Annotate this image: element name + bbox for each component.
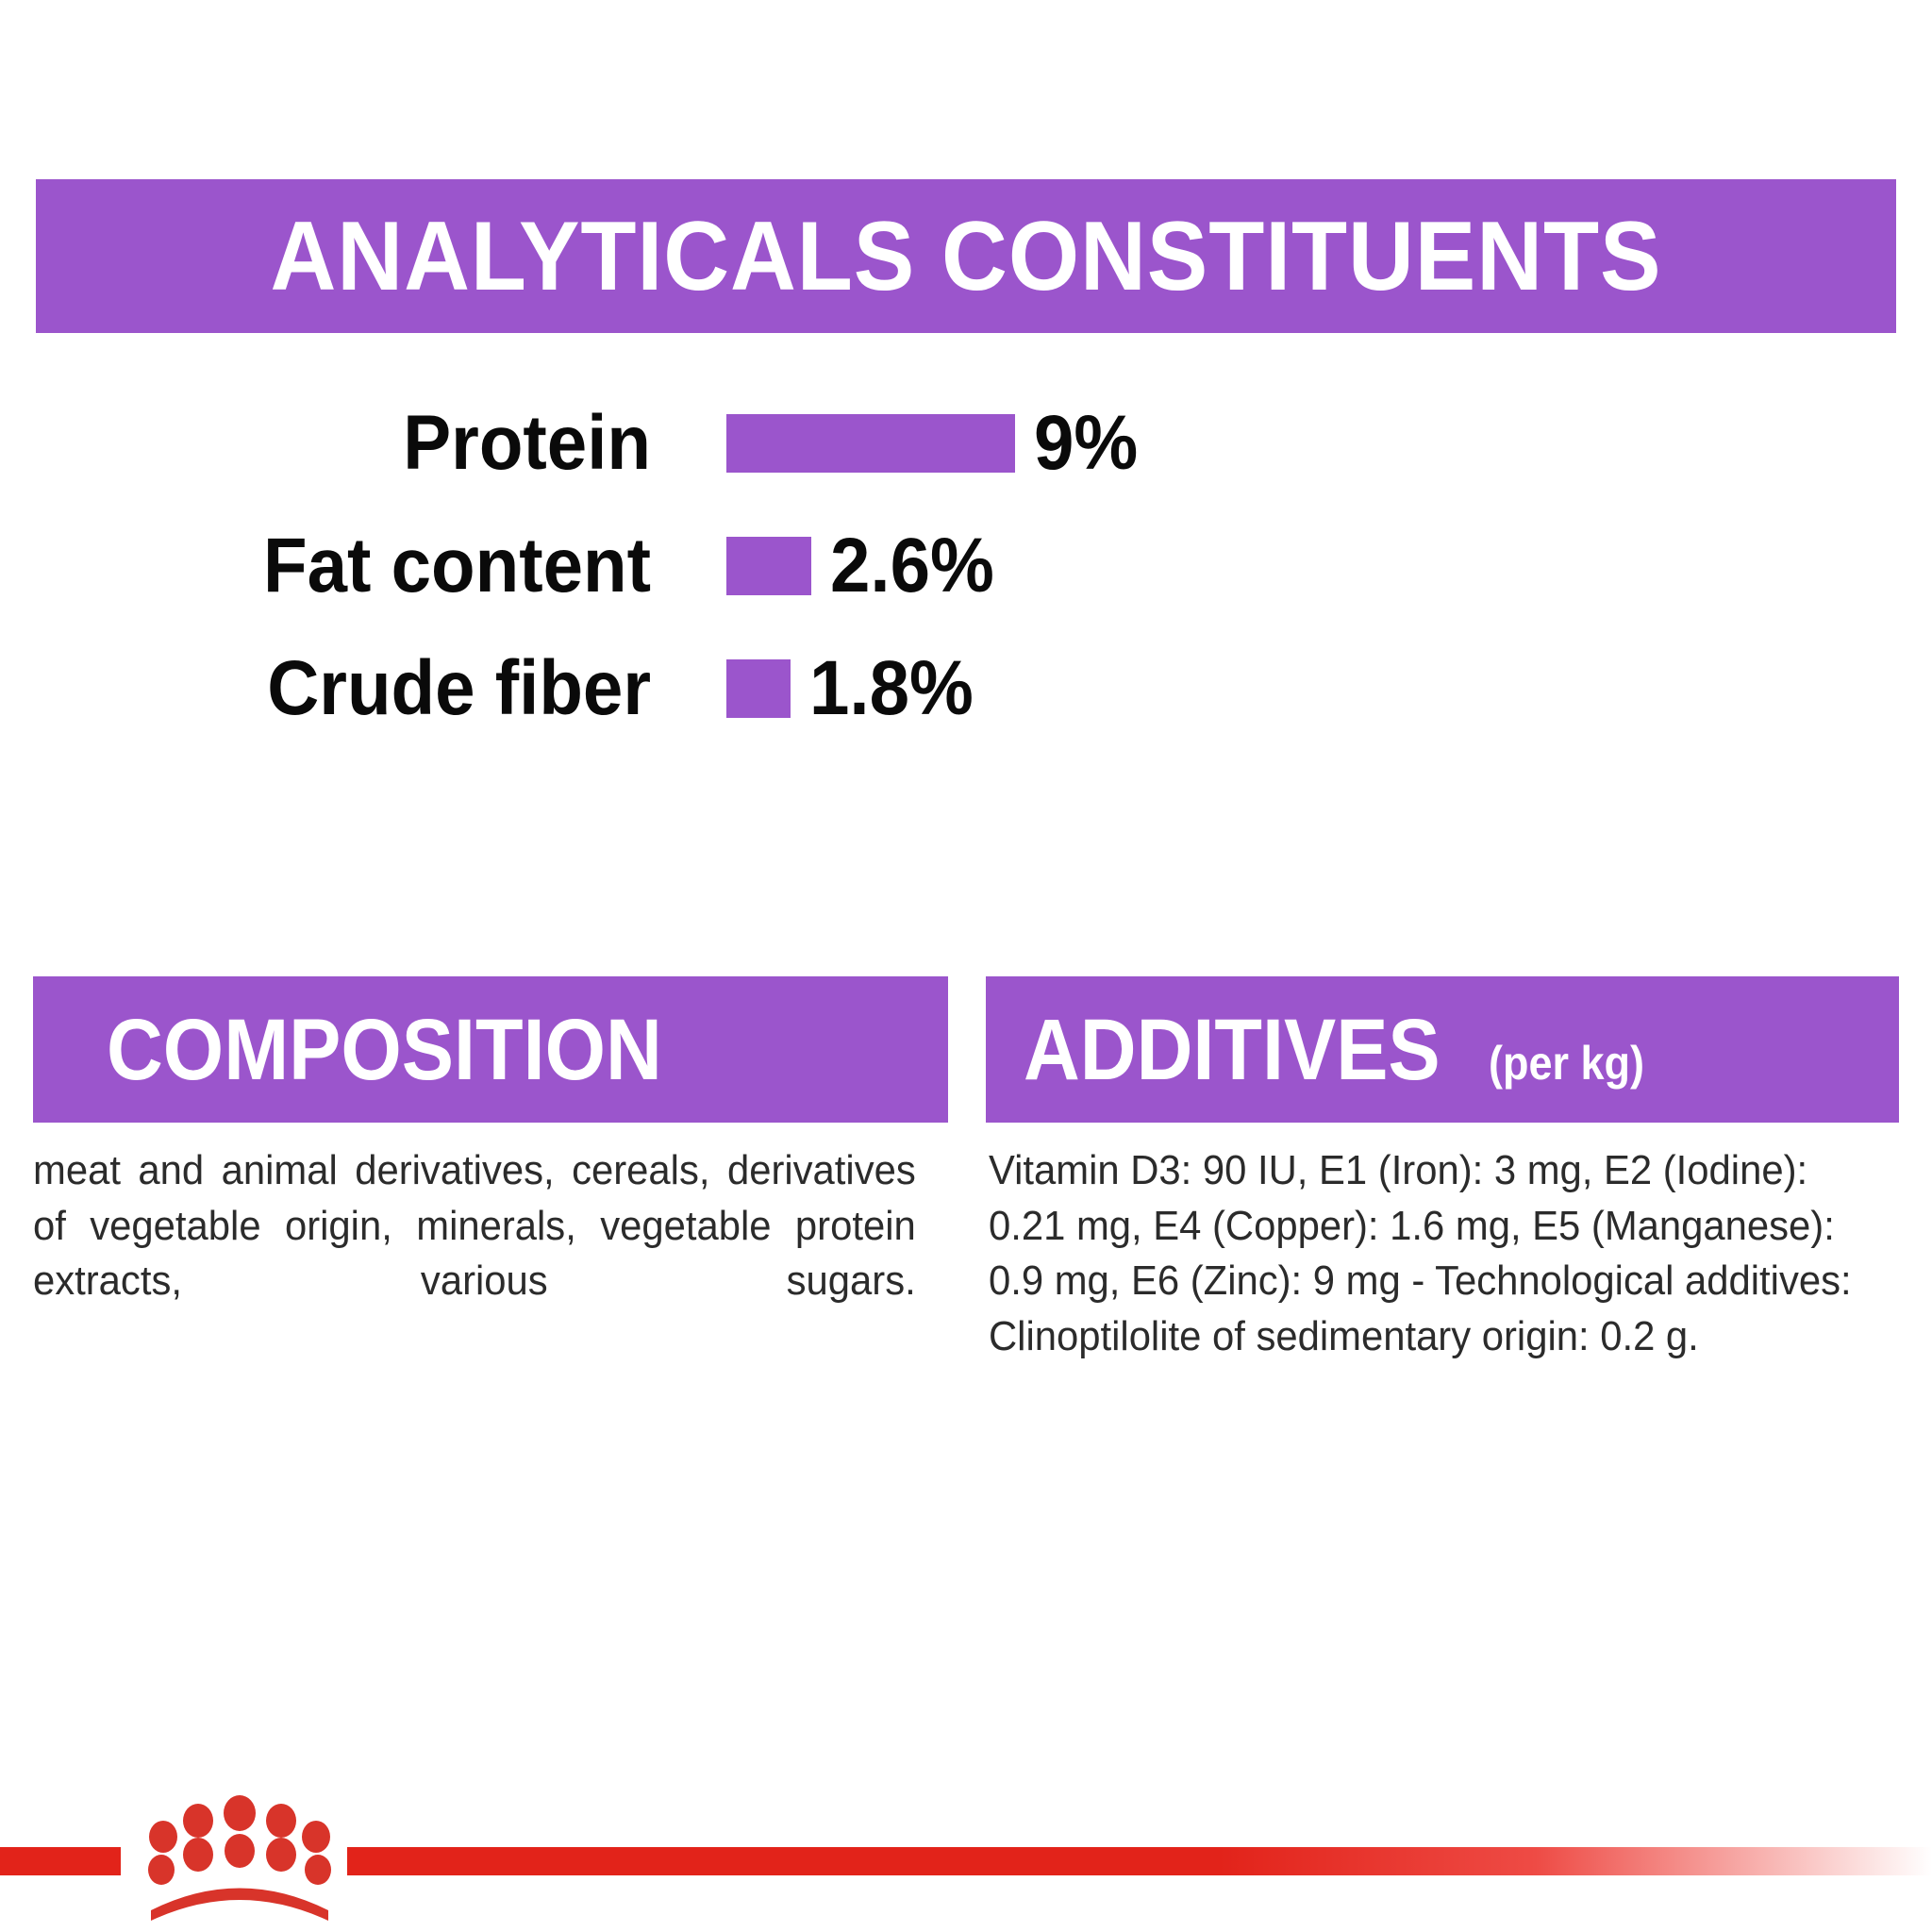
composition-banner: COMPOSITION <box>33 976 948 1123</box>
constituent-value-crude-fiber: 1.8% <box>809 650 974 727</box>
constituent-row: Fat content 2.6% <box>0 505 1932 627</box>
constituent-bar-wrap: 1.8% <box>726 650 986 727</box>
constituent-row: Crude fiber 1.8% <box>0 627 1932 750</box>
constituent-bar-fat-content <box>726 537 811 595</box>
constituent-label-crude-fiber: Crude fiber <box>45 650 651 727</box>
additives-text: Vitamin D3: 90 IU, E1 (Iron): 3 mg, E2 (… <box>989 1143 1885 1364</box>
page-title: ANALYTICALS CONSTITUENTS <box>271 208 1662 306</box>
constituent-value-protein: 9% <box>1034 405 1138 482</box>
footer-rule-left <box>0 1847 121 1875</box>
royal-canin-crown-logo <box>140 1792 340 1924</box>
constituent-label-fat-content: Fat content <box>45 527 651 605</box>
constituent-bar-protein <box>726 414 1015 473</box>
constituent-row: Protein 9% <box>0 382 1932 505</box>
constituent-value-fat-content: 2.6% <box>830 527 994 605</box>
constituent-label-protein: Protein <box>45 405 651 482</box>
constituent-bar-crude-fiber <box>726 659 791 718</box>
composition-text: meat and animal derivatives, cereals, de… <box>33 1143 916 1364</box>
additives-banner: ADDITIVES (per kg) <box>986 976 1899 1123</box>
additives-heading: ADDITIVES <box>1024 1007 1441 1093</box>
constituent-bar-wrap: 2.6% <box>726 527 1007 605</box>
composition-heading: COMPOSITION <box>107 1007 662 1093</box>
additives-heading-suffix: (per kg) <box>1489 1040 1644 1087</box>
constituents-chart: Protein 9% Fat content 2.6% Crude fiber … <box>0 382 1932 750</box>
footer-rule-right <box>347 1847 1932 1875</box>
constituent-bar-wrap: 9% <box>726 405 1146 482</box>
analyticals-constituents-banner: ANALYTICALS CONSTITUENTS <box>36 179 1896 333</box>
footer <box>0 1792 1932 1932</box>
